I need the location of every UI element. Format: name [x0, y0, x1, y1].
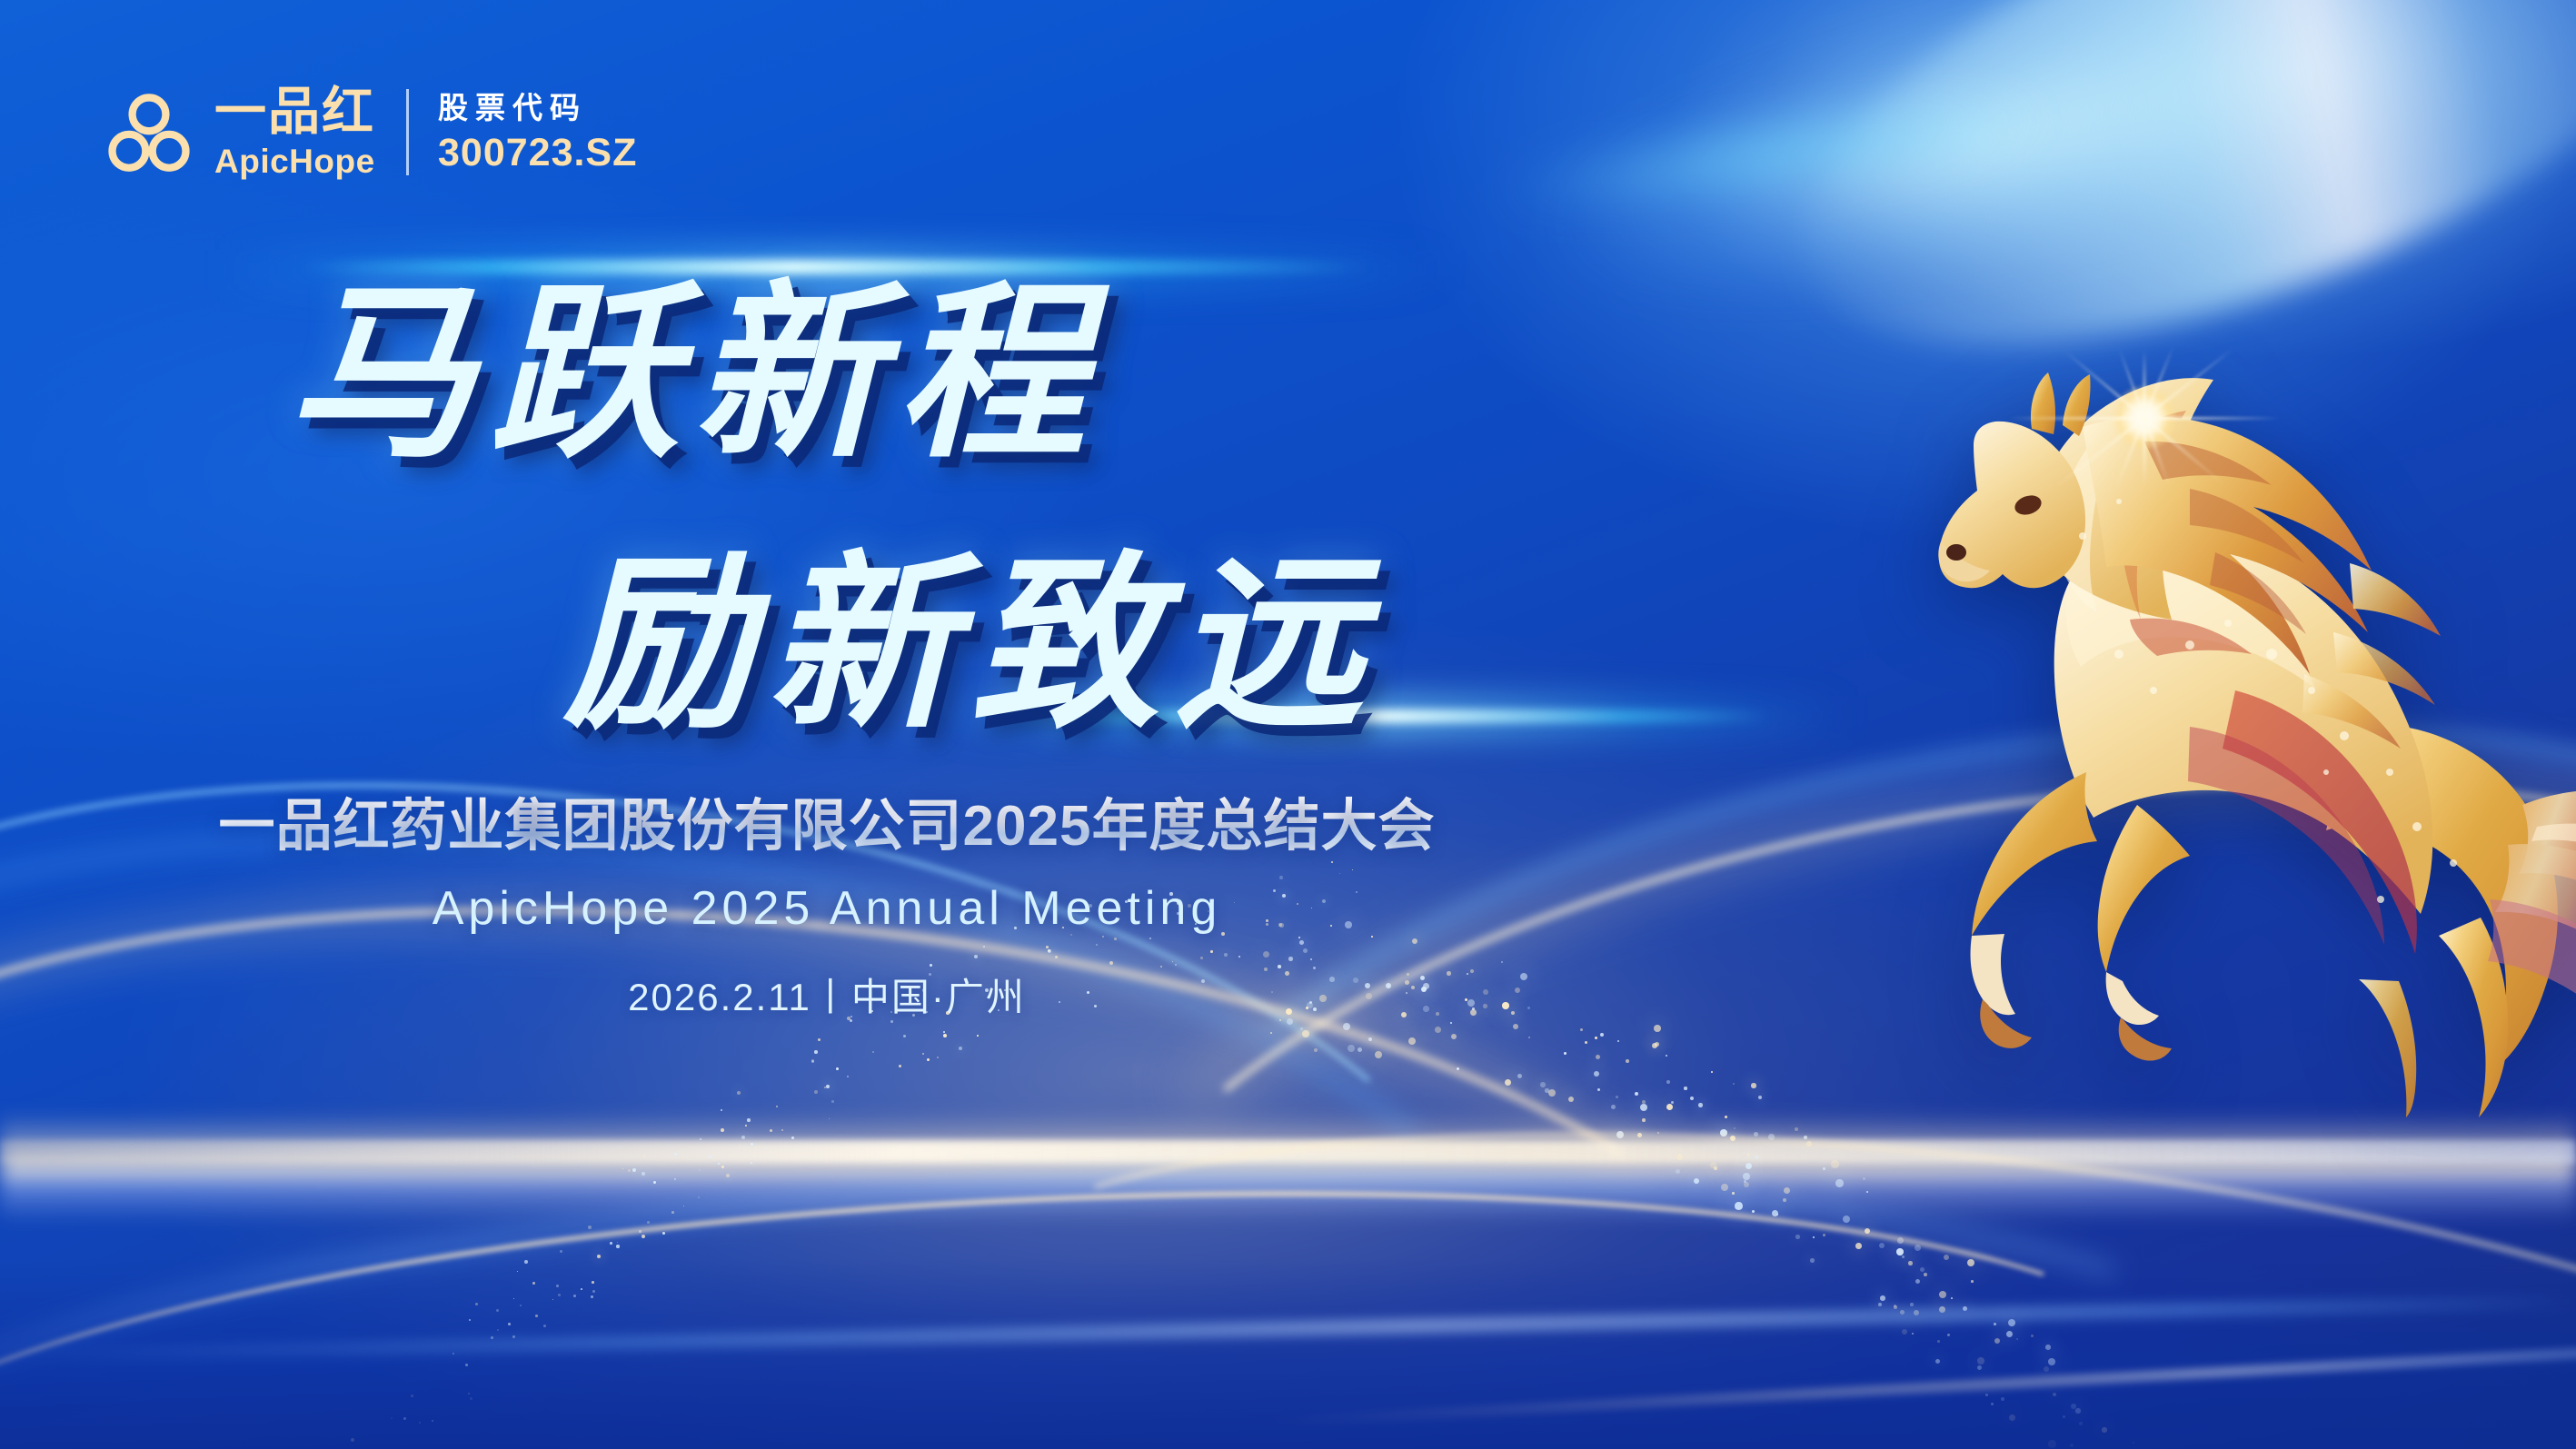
stock-code-value: 300723.SZ — [438, 134, 637, 173]
subtitle-block: 一品红药业集团股份有限公司2025年度总结大会 ApicHope 2025 An… — [0, 795, 1654, 1022]
stock-code-label: 股票代码 — [438, 93, 637, 123]
golden-horse-icon — [1763, 263, 2576, 1117]
brand-wordmark: 一品红 ApicHope — [214, 86, 375, 178]
headline-line-1: 马跃新程 — [286, 220, 1100, 493]
subtitle-english: ApicHope 2025 Annual Meeting — [0, 881, 1654, 936]
horizon-glow — [0, 1113, 2576, 1222]
subtitle-date-location: 2026.2.11丨中国·广州 — [0, 967, 1654, 1022]
brand-logo-lockup[interactable]: 一品红 ApicHope 股票代码 300723.SZ — [107, 86, 637, 178]
logo-divider — [406, 89, 409, 175]
poster-canvas: 一品红 ApicHope 股票代码 300723.SZ 马跃新程 励新致远 一品… — [0, 0, 2576, 1449]
brand-name-cn: 一品红 — [214, 86, 375, 138]
brand-name-en: ApicHope — [214, 144, 375, 178]
subtitle-chinese: 一品红药业集团股份有限公司2025年度总结大会 — [0, 795, 1654, 858]
horizon-line — [0, 1140, 2576, 1164]
headline-line-2: 励新致远 — [563, 491, 1378, 764]
floor-shade — [0, 1258, 2576, 1449]
three-circle-mark-icon — [107, 92, 191, 174]
stock-code-block: 股票代码 300723.SZ — [438, 93, 637, 173]
